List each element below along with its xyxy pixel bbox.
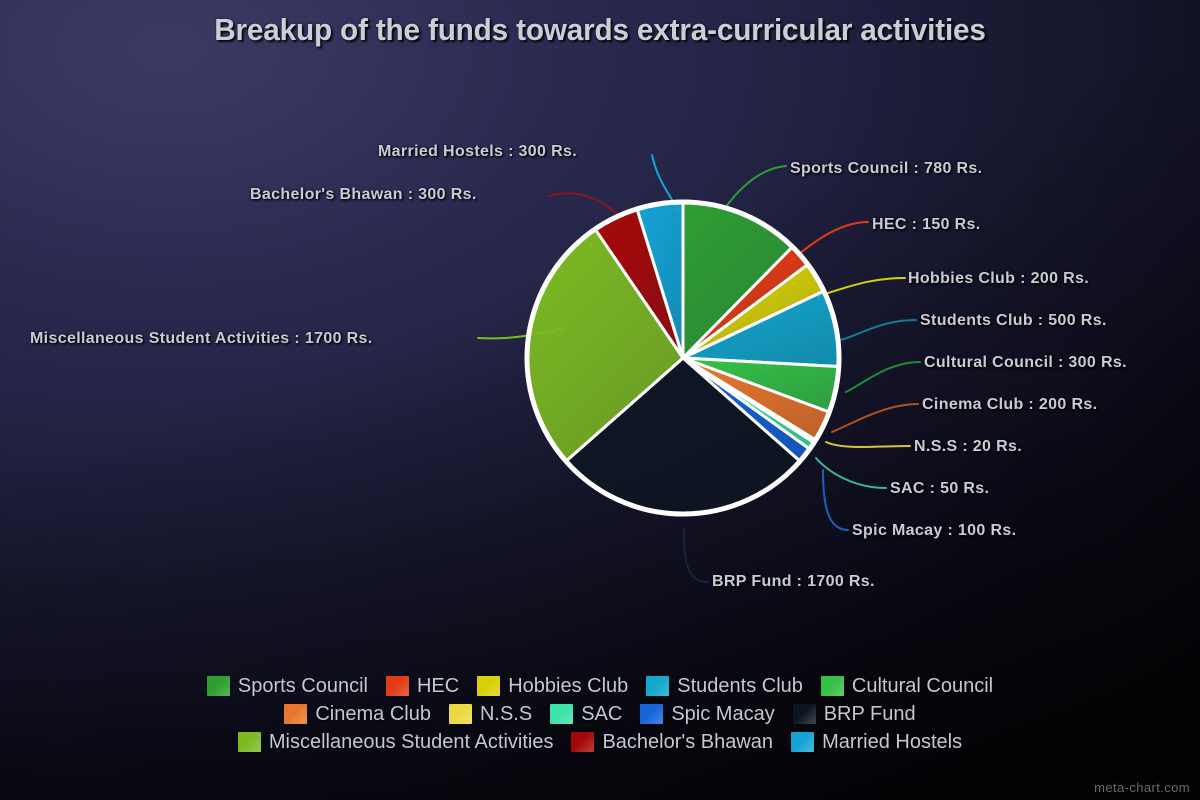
legend-swatch-icon xyxy=(793,704,816,724)
legend-item-cinema-club[interactable]: Cinema Club xyxy=(284,703,431,726)
legend-item-miscellaneous-student-activities[interactable]: Miscellaneous Student Activities xyxy=(238,731,554,754)
legend-swatch-icon xyxy=(477,676,500,696)
legend-item-married-hostels[interactable]: Married Hostels xyxy=(791,731,962,754)
callout-label-nss: N.S.S : 20 Rs. xyxy=(914,438,1022,456)
legend-row: Cinema ClubN.S.SSACSpic MacayBRP Fund xyxy=(0,700,1200,728)
legend-swatch-icon xyxy=(207,676,230,696)
callout-label-hobbies-club: Hobbies Club : 200 Rs. xyxy=(908,270,1089,288)
legend-swatch-icon xyxy=(571,732,594,752)
legend-item-label: Hobbies Club xyxy=(508,675,628,698)
legend-item-label: Cinema Club xyxy=(315,703,431,726)
legend-item-sac[interactable]: SAC xyxy=(550,703,622,726)
watermark: meta-chart.com xyxy=(1094,780,1190,795)
legend-swatch-icon xyxy=(238,732,261,752)
legend-item-hobbies-club[interactable]: Hobbies Club xyxy=(477,675,628,698)
legend-item-label: BRP Fund xyxy=(824,703,916,726)
legend-swatch-icon xyxy=(791,732,814,752)
leader-line-cultural-council xyxy=(846,362,920,392)
legend-row: Sports CouncilHECHobbies ClubStudents Cl… xyxy=(0,672,1200,700)
legend: Sports CouncilHECHobbies ClubStudents Cl… xyxy=(0,672,1200,756)
legend-item-students-club[interactable]: Students Club xyxy=(646,675,803,698)
leader-line-brp-fund xyxy=(684,528,708,582)
legend-item-sports-council[interactable]: Sports Council xyxy=(207,675,368,698)
leader-line-nss xyxy=(826,442,910,447)
legend-item-label: Sports Council xyxy=(238,675,368,698)
legend-swatch-icon xyxy=(284,704,307,724)
legend-item-label: Married Hostels xyxy=(822,731,962,754)
callout-label-cultural-council: Cultural Council : 300 Rs. xyxy=(924,354,1127,372)
leader-line-sports-council xyxy=(725,166,786,208)
legend-item-label: Cultural Council xyxy=(852,675,993,698)
legend-swatch-icon xyxy=(821,676,844,696)
leader-line-students-club xyxy=(840,320,916,340)
legend-item-brp-fund[interactable]: BRP Fund xyxy=(793,703,916,726)
legend-item-label: HEC xyxy=(417,675,459,698)
callout-label-hec: HEC : 150 Rs. xyxy=(872,216,981,234)
leader-line-sac xyxy=(816,458,886,488)
legend-item-label: N.S.S xyxy=(480,703,532,726)
leader-line-cinema-club xyxy=(832,404,918,432)
callout-label-married-hostels: Married Hostels : 300 Rs. xyxy=(378,143,577,161)
legend-item-label: Miscellaneous Student Activities xyxy=(269,731,554,754)
legend-item-bachelor-s-bhawan[interactable]: Bachelor's Bhawan xyxy=(571,731,773,754)
legend-swatch-icon xyxy=(386,676,409,696)
callout-label-spic-macay: Spic Macay : 100 Rs. xyxy=(852,522,1016,540)
leader-line-hobbies-club xyxy=(818,278,905,296)
legend-item-hec[interactable]: HEC xyxy=(386,675,459,698)
legend-item-label: Students Club xyxy=(677,675,803,698)
callout-label-misc-student: Miscellaneous Student Activities : 1700 … xyxy=(30,330,373,348)
legend-swatch-icon xyxy=(640,704,663,724)
callout-label-students-club: Students Club : 500 Rs. xyxy=(920,312,1107,330)
callout-label-bachelors-bhawan: Bachelor's Bhawan : 300 Rs. xyxy=(250,186,477,204)
legend-swatch-icon xyxy=(646,676,669,696)
legend-swatch-icon xyxy=(449,704,472,724)
legend-item-n-s-s[interactable]: N.S.S xyxy=(449,703,532,726)
legend-item-label: Bachelor's Bhawan xyxy=(602,731,773,754)
callout-label-brp-fund: BRP Fund : 1700 Rs. xyxy=(712,573,875,591)
legend-item-cultural-council[interactable]: Cultural Council xyxy=(821,675,993,698)
legend-row: Miscellaneous Student ActivitiesBachelor… xyxy=(0,728,1200,756)
callout-label-sac: SAC : 50 Rs. xyxy=(890,480,989,498)
legend-item-label: SAC xyxy=(581,703,622,726)
legend-swatch-icon xyxy=(550,704,573,724)
legend-item-label: Spic Macay xyxy=(671,703,774,726)
chart-canvas: Breakup of the funds towards extra-curri… xyxy=(0,0,1200,800)
callout-label-sports-council: Sports Council : 780 Rs. xyxy=(790,160,982,178)
callout-label-cinema-club: Cinema Club : 200 Rs. xyxy=(922,396,1097,414)
pie-slices xyxy=(526,201,840,515)
legend-item-spic-macay[interactable]: Spic Macay xyxy=(640,703,774,726)
